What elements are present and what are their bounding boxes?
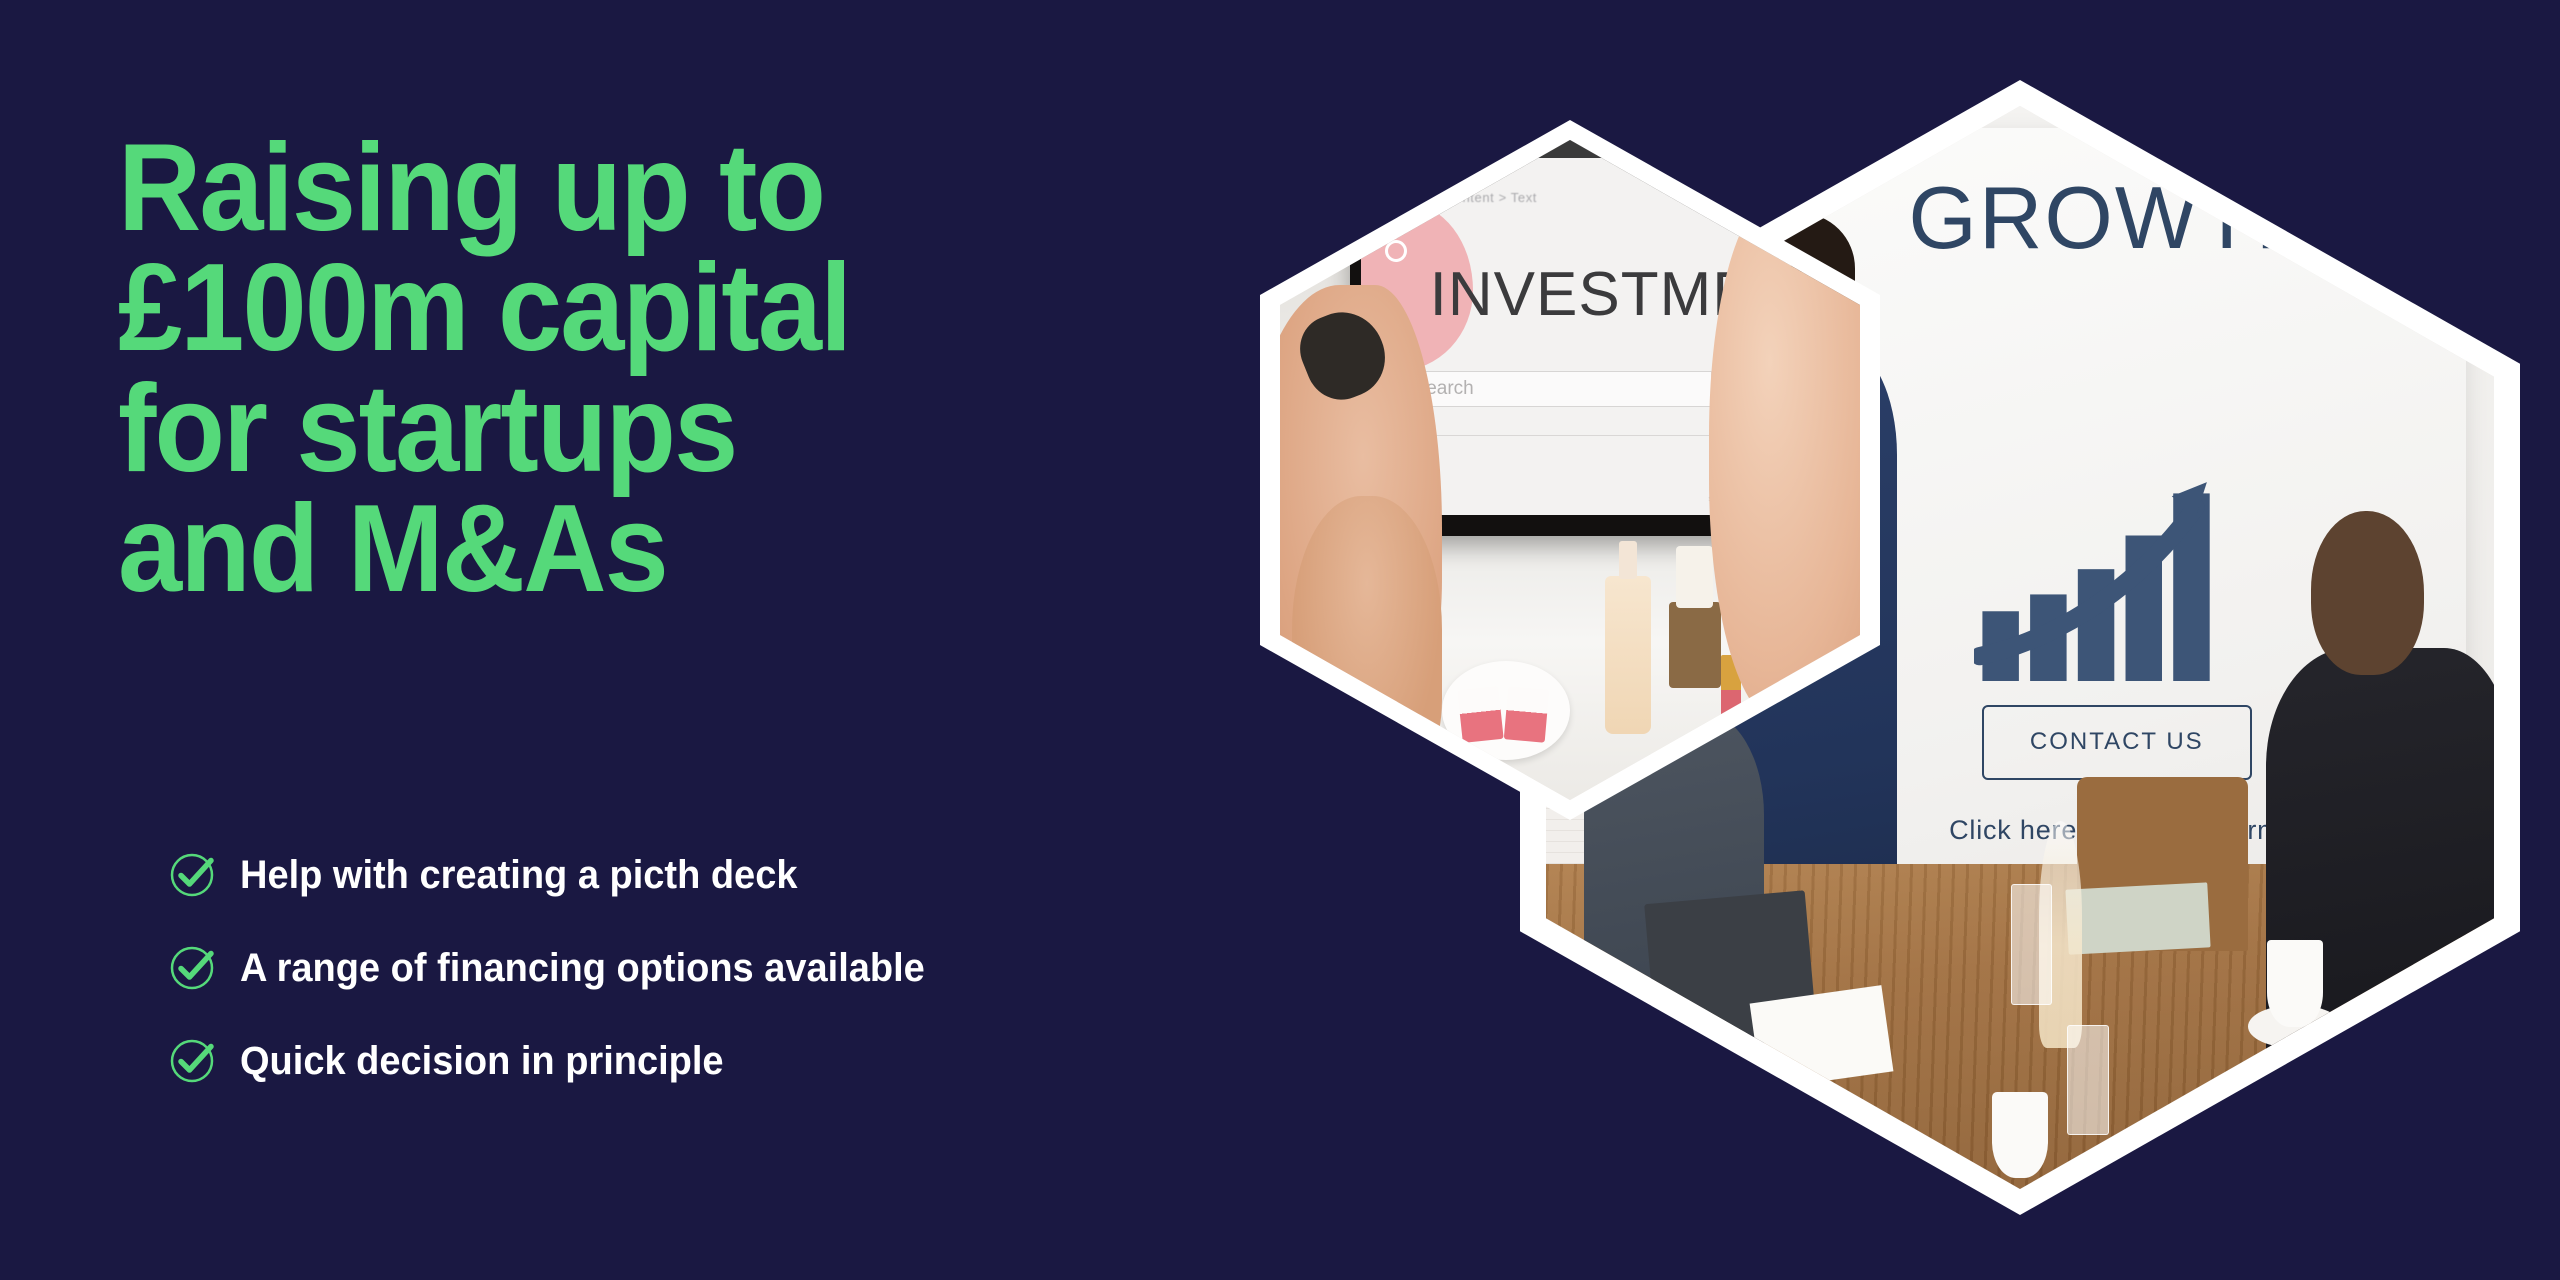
notepad: [2066, 882, 2211, 954]
page-title: Raising up to £100m capital for startups…: [118, 128, 1160, 609]
search-input[interactable]: search: [1402, 371, 1712, 407]
benefits-list: Help with creating a picth deck A range …: [170, 845, 961, 1124]
coffee-cup: [2267, 940, 2324, 1027]
hand: [1292, 496, 1443, 786]
benefit-label: Help with creating a picth deck: [240, 855, 797, 895]
list-item: A range of financing options available: [170, 938, 961, 998]
water-glass: [2067, 1025, 2109, 1135]
headline-line-3: for startups: [118, 369, 1160, 489]
hexagon-photo-collage: GROWTH: [1240, 60, 2560, 1280]
attendee-right-head: [2311, 511, 2424, 675]
lotion-bottle: [1605, 576, 1651, 734]
headline-line-2: £100m capital: [118, 248, 1160, 368]
woman-right-profile: [1709, 193, 1860, 721]
list-item: Quick decision in principle: [170, 1031, 961, 1091]
hero-banner: Raising up to £100m capital for startups…: [0, 0, 2560, 1280]
list-item: Help with creating a picth deck: [170, 845, 961, 905]
coffee-cup: [1992, 1092, 2049, 1179]
divider: [1402, 435, 1750, 436]
cake-slice: [1504, 686, 1549, 742]
cake-slice: [1457, 686, 1503, 743]
bar-chart-growth-icon: [1974, 381, 2255, 681]
board-heading: GROWTH: [1764, 167, 2466, 269]
check-circle-icon: [170, 945, 216, 991]
benefit-label: A range of financing options available: [240, 948, 925, 988]
contact-us-button[interactable]: CONTACT US: [1982, 705, 2253, 780]
search-bar[interactable]: search ⚲: [1402, 371, 1750, 407]
headline-line-1: Raising up to: [118, 128, 1160, 248]
investment-photo: Home > Content > Text INVESTMENT search …: [1280, 140, 1860, 800]
paper-sheet: [1749, 985, 1892, 1089]
check-circle-icon: [170, 852, 216, 898]
browser-top-bar: [1361, 140, 1791, 158]
seated-attendee-right: [2266, 648, 2494, 1103]
candle: [1669, 602, 1721, 688]
check-circle-icon: [170, 1038, 216, 1084]
water-glass: [2011, 884, 2053, 1005]
benefit-label: Quick decision in principle: [240, 1041, 724, 1081]
copy-block: Raising up to £100m capital for startups…: [118, 128, 1238, 609]
breadcrumb: Home > Content > Text: [1391, 190, 1537, 205]
hexagon-investment-clip: Home > Content > Text INVESTMENT search …: [1280, 140, 1860, 800]
headline-line-4: and M&As: [118, 489, 1160, 609]
